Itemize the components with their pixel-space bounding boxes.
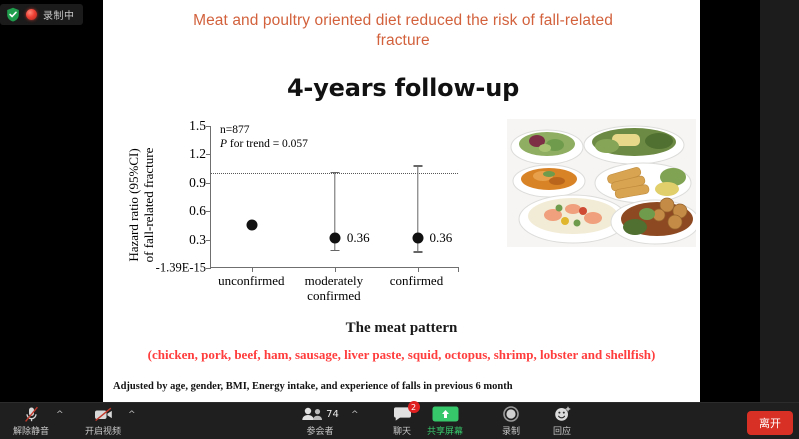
shield-check-icon[interactable] (6, 7, 20, 22)
toolbar-item-mute[interactable]: 解除静音 (4, 405, 58, 437)
x-tickmark (252, 267, 253, 272)
y-tickmark (206, 126, 211, 127)
data-marker (247, 220, 258, 231)
right-side-panel (760, 0, 799, 402)
plates-of-food-photo (507, 119, 696, 247)
hazard-ratio-chart: Hazard ratio (95%CI) of fall-related fra… (128, 120, 518, 310)
y-axis-title-line1: Hazard ratio (95%CI) (126, 148, 141, 261)
y-tick-label: 1.5 (189, 118, 206, 134)
error-bar-cap-lower (330, 250, 339, 251)
p-for-trend-label: P for trend = 0.057 (220, 137, 308, 151)
toolbar-item-reactions[interactable]: 回应 (535, 405, 589, 437)
y-tickmark (206, 240, 211, 241)
meat-pattern-label: The meat pattern (103, 320, 700, 337)
slide-subtitle: 4-years follow-up (183, 74, 623, 102)
chart-y-tick-labels: 1.5 1.2 0.9 0.6 0.3 -1.39E-15 (162, 120, 206, 268)
toolbar-label-reactions: 回应 (553, 424, 571, 437)
y-tick-label: 1.2 (189, 146, 206, 162)
microphone-muted-icon[interactable] (24, 405, 39, 423)
recording-status-bar[interactable]: 录制中 (0, 4, 83, 25)
recording-dot-icon (26, 9, 37, 20)
y-axis-title-line2: of fall-related fracture (141, 148, 156, 263)
meeting-toolbar: 解除静音 ^ 开启视频 ^ (0, 402, 799, 439)
shared-screen-slide: Meat and poultry oriented diet reduced t… (103, 0, 700, 402)
toolbar-item-participants[interactable]: 74 参会者 (293, 405, 347, 437)
chart-y-axis-title: Hazard ratio (95%CI) of fall-related fra… (124, 120, 158, 290)
x-category-line: confirmed (362, 273, 472, 288)
share-screen-icon[interactable] (432, 405, 459, 423)
data-point-label: 0.36 (347, 230, 370, 246)
x-tickmark (418, 267, 419, 272)
chat-icon[interactable]: 2 (393, 405, 412, 423)
x-category-line: confirmed (279, 288, 389, 303)
y-tick-label: 0.3 (189, 232, 206, 248)
error-bar-cap-upper (330, 172, 339, 173)
x-tickmark (335, 267, 336, 272)
p-italic: P (220, 138, 227, 150)
toolbar-label-participants: 参会者 (306, 424, 333, 437)
toolbar-label-record: 录制 (502, 424, 520, 437)
toolbar-item-video[interactable]: 开启视频 (76, 405, 130, 437)
participants-icon[interactable]: 74 (301, 405, 339, 423)
p-rest: for trend = 0.057 (227, 138, 308, 150)
toolbar-label-share-screen: 共享屏幕 (427, 424, 463, 437)
toolbar-label-chat: 聊天 (393, 424, 411, 437)
x-tickmark (458, 267, 459, 272)
zoom-meeting-window: 录制中 Meat and poultry oriented diet reduc… (0, 0, 799, 439)
error-bar-cap-upper (413, 165, 422, 166)
slide-title: Meat and poultry oriented diet reduced t… (183, 11, 623, 51)
mute-options-chevron-icon[interactable]: ^ (56, 410, 64, 420)
record-icon[interactable] (503, 405, 519, 423)
toolbar-item-record[interactable]: 录制 (484, 405, 538, 437)
error-bar-cap-lower (413, 251, 422, 252)
participants-count: 74 (326, 409, 339, 420)
data-marker (412, 233, 423, 244)
chart-x-category-labels: unconfirmed moderately confirmed confirm… (210, 273, 458, 307)
y-tick-label: 0.6 (189, 203, 206, 219)
toolbar-label-mute: 解除静音 (13, 424, 49, 437)
x-category-confirmed: confirmed (362, 273, 472, 288)
sample-size-label: n=877 (220, 123, 308, 137)
reactions-icon[interactable] (554, 405, 571, 423)
adjusted-note: Adjusted by age, gender, BMI, Energy int… (113, 381, 693, 392)
y-tickmark (206, 268, 211, 269)
meat-pattern-list: (chicken, pork, beef, ham, sausage, live… (103, 347, 700, 363)
data-point-label: 0.36 (430, 230, 453, 246)
y-tickmark (206, 211, 211, 212)
recording-status-label: 录制中 (43, 7, 75, 22)
y-tickmark (206, 154, 211, 155)
y-tickmark (206, 183, 211, 184)
video-options-chevron-icon[interactable]: ^ (128, 410, 136, 420)
toolbar-item-share-screen[interactable]: 共享屏幕 (418, 405, 472, 437)
chart-annotations: n=877 P for trend = 0.057 (220, 123, 308, 151)
participants-options-chevron-icon[interactable]: ^ (351, 410, 359, 420)
video-muted-icon[interactable] (94, 405, 113, 423)
toolbar-label-video: 开启视频 (85, 424, 121, 437)
data-marker (329, 233, 340, 244)
leave-meeting-button[interactable]: 离开 (747, 411, 793, 435)
y-tick-label: 0.9 (189, 175, 206, 191)
